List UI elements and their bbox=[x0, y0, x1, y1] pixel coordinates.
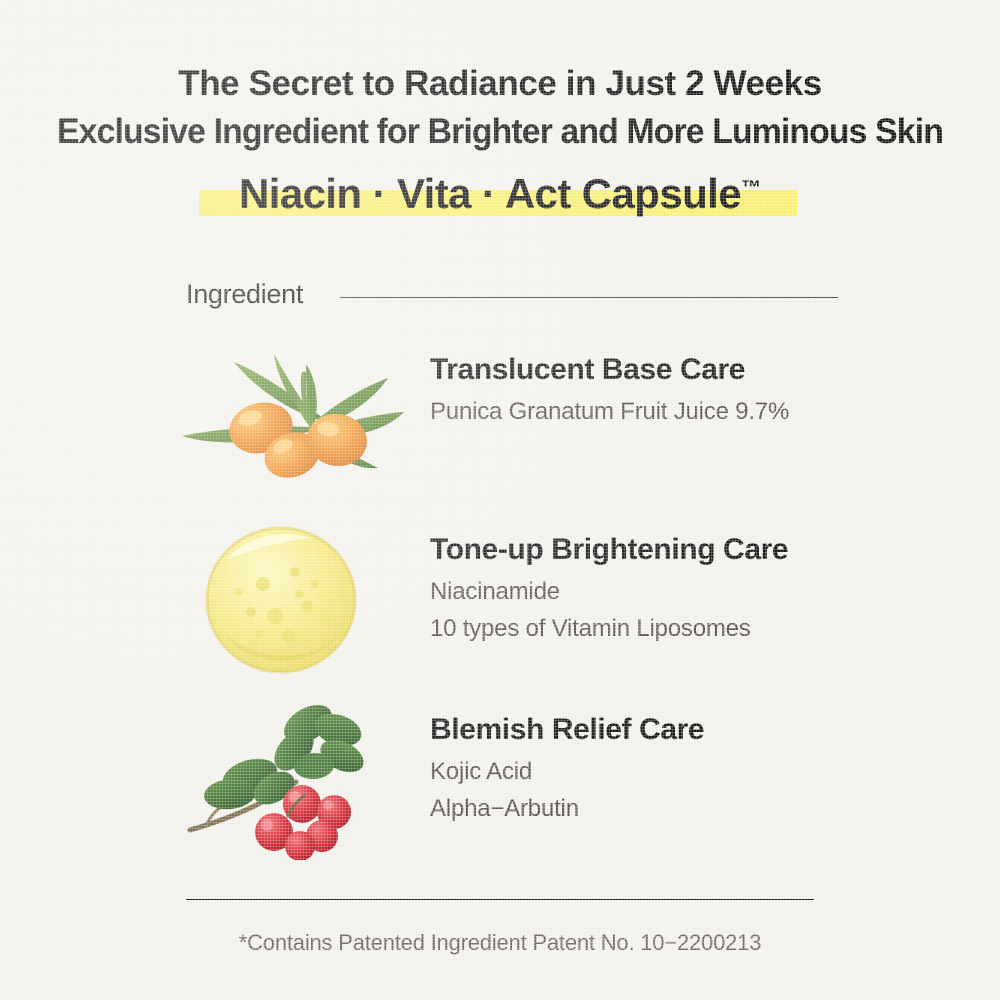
ingredient-section-label: Ingredient bbox=[186, 279, 303, 310]
headline-secondary: Exclusive Ingredient for Brighter and Mo… bbox=[18, 112, 983, 152]
list-item: Translucent Base Care Punica Granatum Fr… bbox=[0, 340, 1000, 520]
sea-buckthorn-berries-icon bbox=[178, 340, 408, 500]
ingredient-detail: Kojic Acid bbox=[430, 754, 704, 790]
ingredient-detail: Niacinamide bbox=[430, 574, 788, 610]
product-name-text: Niacin · Vita · Act Capsule bbox=[239, 170, 741, 217]
ingredient-text-block: Blemish Relief Care Kojic Acid Alpha−Arb… bbox=[430, 700, 704, 827]
patent-disclaimer: *Contains Patented Ingredient Patent No.… bbox=[0, 930, 1000, 956]
ingredient-title: Blemish Relief Care bbox=[430, 712, 704, 747]
ingredient-title: Translucent Base Care bbox=[430, 352, 789, 387]
ingredient-detail: Punica Granatum Fruit Juice 9.7% bbox=[430, 394, 789, 430]
ingredient-list: Translucent Base Care Punica Granatum Fr… bbox=[0, 340, 1000, 880]
ingredient-title: Tone-up Brightening Care bbox=[430, 532, 788, 567]
ingredient-text-block: Translucent Base Care Punica Granatum Fr… bbox=[430, 340, 789, 431]
ingredient-detail: Alpha−Arbutin bbox=[430, 791, 704, 827]
footer-divider-rule bbox=[186, 899, 814, 900]
list-item: Blemish Relief Care Kojic Acid Alpha−Arb… bbox=[0, 700, 1000, 880]
ingredient-text-block: Tone-up Brightening Care Niacinamide 10 … bbox=[430, 520, 788, 647]
ingredient-infographic: The Secret to Radiance in Just 2 Weeks E… bbox=[0, 0, 1000, 1000]
ingredient-divider-rule bbox=[340, 297, 838, 298]
lingonberry-sprig-icon bbox=[178, 700, 408, 860]
ingredient-detail: 10 types of Vitamin Liposomes bbox=[430, 611, 788, 647]
product-name: Niacin · Vita · Act Capsule™ bbox=[239, 170, 761, 217]
trademark-symbol: ™ bbox=[741, 177, 761, 199]
headline-primary: The Secret to Radiance in Just 2 Weeks bbox=[0, 64, 1000, 104]
product-name-block: Niacin · Vita · Act Capsule™ bbox=[0, 160, 1000, 222]
list-item: Tone-up Brightening Care Niacinamide 10 … bbox=[0, 520, 1000, 700]
ingredient-section-header: Ingredient bbox=[186, 276, 838, 312]
yellow-gel-droplet-icon bbox=[178, 520, 408, 680]
